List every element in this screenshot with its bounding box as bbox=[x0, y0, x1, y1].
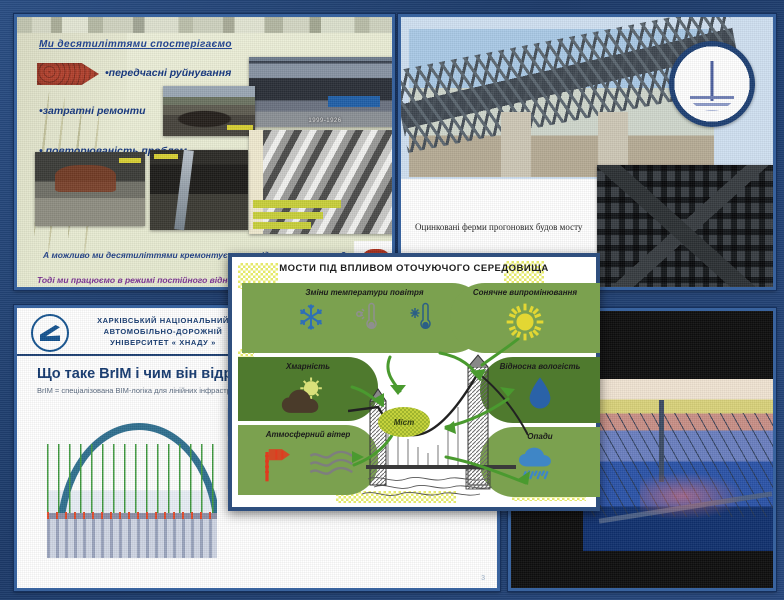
conclusion-text: Тоді ми працюємо в режимі постійного від… bbox=[37, 275, 238, 285]
sun-icon bbox=[505, 302, 545, 347]
snowflake-icon bbox=[296, 302, 326, 337]
thermometer-cold-icon bbox=[408, 302, 434, 337]
bullet-premature-destruction: •передчасні руйнування bbox=[105, 67, 231, 79]
photo-damaged-road bbox=[163, 86, 255, 136]
photo-night-cable-bridge bbox=[583, 379, 773, 551]
pill-precipitation-label: Опади bbox=[527, 432, 552, 442]
seal-bridge-emblem bbox=[685, 57, 739, 111]
thermometer-hot-icon bbox=[354, 302, 380, 337]
pill-wind-label: Атмосферний вітер bbox=[266, 430, 351, 440]
infographic-title: МОСТИ ПІД ВПЛИВОМ ОТОЧУЮЧОГО СЕРЕДОВИЩА bbox=[232, 263, 596, 274]
university-name: ХАРКІВСЬКИЙ НАЦІОНАЛЬНИЙ АВТОМОБІЛЬНО-ДО… bbox=[73, 315, 253, 348]
pill-solar-radiation[interactable]: Сонячне випромінювання bbox=[450, 283, 600, 353]
photo-truss-bridge bbox=[409, 29, 714, 177]
slide-brim-subtitle: BrIM = спеціалізована BIM-логіка для лін… bbox=[37, 386, 241, 395]
photo-truss-closeup bbox=[597, 165, 773, 290]
photo-corroded-bearing bbox=[35, 152, 145, 226]
photo-water-leak bbox=[150, 150, 248, 230]
slide-problems[interactable]: Ми десятиліттями спостерігаємо •передчас… bbox=[14, 14, 395, 290]
screenshot-root: Ми десятиліттями спостерігаємо •передчас… bbox=[0, 0, 784, 600]
water-drop-icon bbox=[525, 376, 555, 417]
slide-galvanized-truss[interactable]: Оцинковані ферми прогонових будов мосту bbox=[398, 14, 776, 290]
windsock-icon bbox=[261, 444, 297, 489]
university-logo-icon bbox=[31, 314, 69, 352]
infographic-bridges-environment[interactable]: МОСТИ ПІД ВПЛИВОМ ОТОЧУЮЧОГО СЕРЕДОВИЩА … bbox=[228, 253, 600, 511]
photo-overpass-caption: 1999-1926 bbox=[249, 118, 395, 124]
slide-problems-heading: Ми десятиліттями спостерігаємо bbox=[39, 39, 232, 50]
slide-page-number: 3 bbox=[481, 575, 485, 582]
photo-overpass-train bbox=[328, 96, 380, 107]
pill-solar-label: Сонячне випромінювання bbox=[473, 288, 577, 298]
department-seal-logo bbox=[669, 41, 755, 127]
photo-brim-arch-bridge-model bbox=[47, 408, 217, 558]
render-glitch-strip bbox=[17, 17, 392, 33]
center-node-bridge: Міст bbox=[378, 407, 430, 437]
photo-overpass: 1999-1926 bbox=[249, 57, 395, 127]
cloud-sun-icon bbox=[277, 376, 339, 421]
bullet-costly-repairs: •затратні ремонти bbox=[39, 105, 146, 117]
pill-temperature-label: Зміни температури повітря bbox=[305, 288, 423, 298]
truss-caption: Оцинковані ферми прогонових будов мосту bbox=[415, 222, 582, 232]
pill-cloudiness-label: Хмарність bbox=[286, 362, 330, 372]
photo-corroded-cables bbox=[249, 130, 395, 234]
suspension-bridge-illustration bbox=[348, 349, 528, 499]
